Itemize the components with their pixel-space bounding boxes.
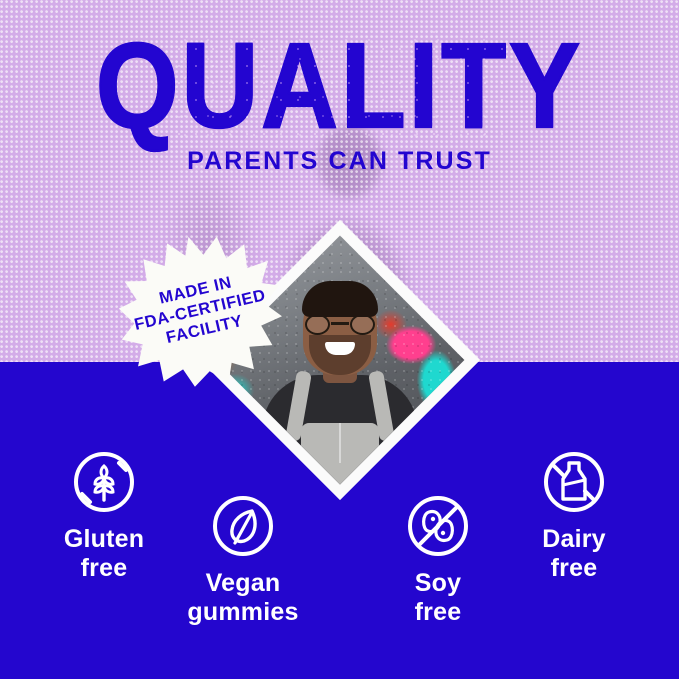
badge-vegan-gummies: Vegan gummies (168, 493, 318, 626)
eyeglass-bridge (331, 322, 349, 325)
badge-dairy-free: Dairy free (499, 449, 649, 582)
badge-label: Vegan gummies (168, 569, 318, 626)
badge-label: Dairy free (499, 525, 649, 582)
leaf-icon (210, 493, 276, 559)
badge-soy-free: Soy free (363, 493, 513, 626)
eyeglass-lens-left (305, 314, 330, 335)
headline-quality: QUALITY (0, 26, 679, 147)
eyeglass-lens-right (350, 314, 375, 335)
badge-label: Soy free (363, 569, 513, 626)
fda-certified-seal: MADE IN FDA-CERTIFIED FACILITY (107, 222, 293, 398)
soybean-crossed-icon (405, 493, 471, 559)
badge-gluten-free: Gluten free (29, 449, 179, 582)
person-hair (302, 281, 378, 317)
wheat-crossed-icon (71, 449, 137, 515)
quality-promo-graphic: QUALITY PARENTS CAN TRUST (0, 0, 679, 679)
badge-label: Gluten free (29, 525, 179, 582)
eyeglasses-icon (305, 314, 375, 335)
subheadline-parents-can-trust: PARENTS CAN TRUST (0, 147, 679, 176)
milk-bottle-crossed-icon (541, 449, 607, 515)
